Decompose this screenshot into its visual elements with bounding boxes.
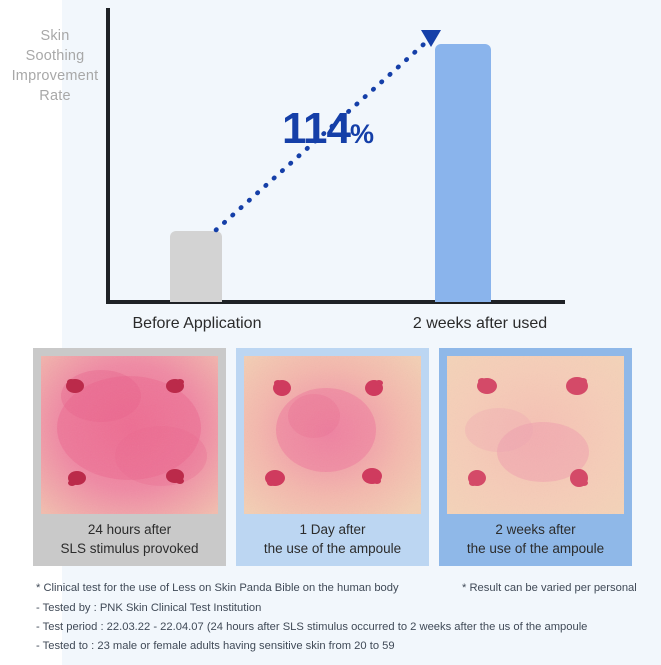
- footnote-line-tested-to: - Tested to : 23 male or female adults h…: [36, 636, 395, 657]
- photo-card-caption-1-day: 1 Day after the use of the ampoule: [236, 520, 429, 558]
- improvement-percentage: 114%: [282, 104, 374, 154]
- caption-line-1: 24 hours after: [33, 520, 226, 539]
- footnotes: * Clinical test for the use of Less on S…: [0, 578, 661, 665]
- footnote-line-clinical-test: * Clinical test for the use of Less on S…: [36, 578, 399, 599]
- caption-line-1: 2 weeks after: [439, 520, 632, 539]
- y-axis-caption-line-2: Soothing: [6, 46, 104, 66]
- photo-card-24-hours: 24 hours after SLS stimulus provoked: [33, 348, 226, 566]
- caption-line-2: the use of the ampoule: [439, 539, 632, 558]
- improvement-percentage-number: 114: [282, 104, 350, 153]
- footnote-result-disclaimer: * Result can be varied per personal: [462, 578, 637, 599]
- y-axis-caption: Skin Soothing Improvement Rate: [6, 26, 104, 106]
- bar-before-application: [170, 231, 222, 302]
- photo-card-2-weeks: 2 weeks after the use of the ampoule: [439, 348, 632, 566]
- caption-line-1: 1 Day after: [236, 520, 429, 539]
- skin-photo-2-weeks: [447, 356, 624, 514]
- infographic-root: Skin Soothing Improvement Rate Before Ap…: [0, 0, 661, 665]
- bar-chart: Skin Soothing Improvement Rate Before Ap…: [0, 0, 661, 340]
- photo-card-row: 24 hours after SLS stimulus provoked: [0, 348, 661, 570]
- bar-label-two-weeks-after: 2 weeks after used: [372, 315, 588, 333]
- photo-card-caption-2-weeks: 2 weeks after the use of the ampoule: [439, 520, 632, 558]
- skin-photo-24-hours: [41, 356, 218, 514]
- y-axis-caption-line-3: Improvement: [6, 66, 104, 86]
- y-axis-caption-line-4: Rate: [6, 86, 104, 106]
- bar-label-before-application: Before Application: [106, 315, 288, 333]
- footnote-line-tested-by: - Tested by : PNK Skin Clinical Test Ins…: [36, 598, 261, 619]
- bar-two-weeks-after: [435, 44, 491, 302]
- caption-line-2: SLS stimulus provoked: [33, 539, 226, 558]
- photo-card-caption-24-hours: 24 hours after SLS stimulus provoked: [33, 520, 226, 558]
- caption-line-2: the use of the ampoule: [236, 539, 429, 558]
- improvement-percentage-symbol: %: [350, 119, 374, 149]
- footnote-line-test-period: - Test period : 22.03.22 - 22.04.07 (24 …: [36, 617, 587, 638]
- photo-card-1-day: 1 Day after the use of the ampoule: [236, 348, 429, 566]
- skin-photo-1-day: [244, 356, 421, 514]
- y-axis-line: [106, 8, 110, 304]
- y-axis-caption-line-1: Skin: [6, 26, 104, 46]
